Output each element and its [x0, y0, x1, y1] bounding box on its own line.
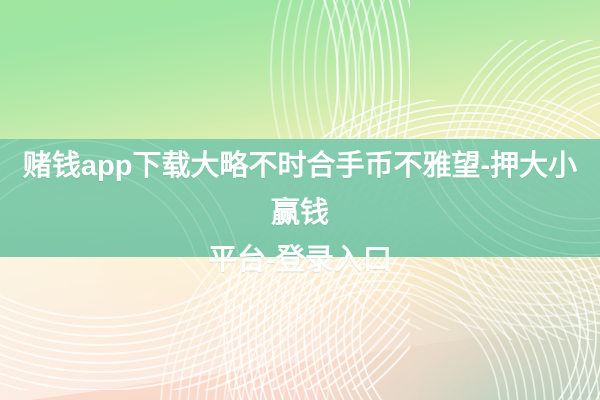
banner-headline: 赌钱app下载大略不时合手币不雅望-押大小赢钱 平台-登录入口: [0, 143, 600, 284]
promo-banner: 赌钱app下载大略不时合手币不雅望-押大小赢钱 平台-登录入口: [0, 0, 600, 400]
